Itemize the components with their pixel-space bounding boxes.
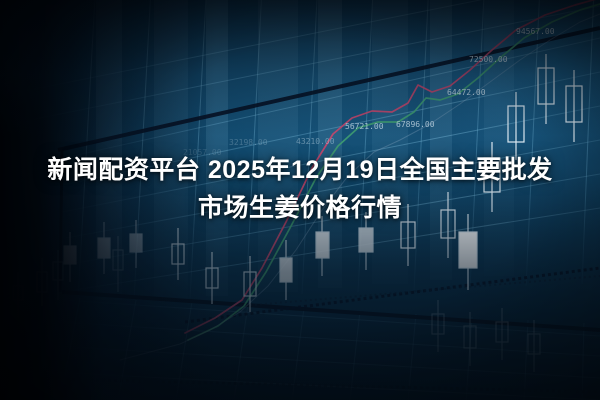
- page-title: 新闻配资平台 2025年12月19日全国主要批发 市场生姜价格行情: [0, 151, 600, 227]
- screenshot-canvas: 94567.00 72500.00 64472.00 67896.00 5672…: [0, 0, 600, 400]
- page-title-line-1: 新闻配资平台 2025年12月19日全国主要批发: [47, 156, 552, 184]
- page-title-line-2: 市场生姜价格行情: [26, 189, 574, 227]
